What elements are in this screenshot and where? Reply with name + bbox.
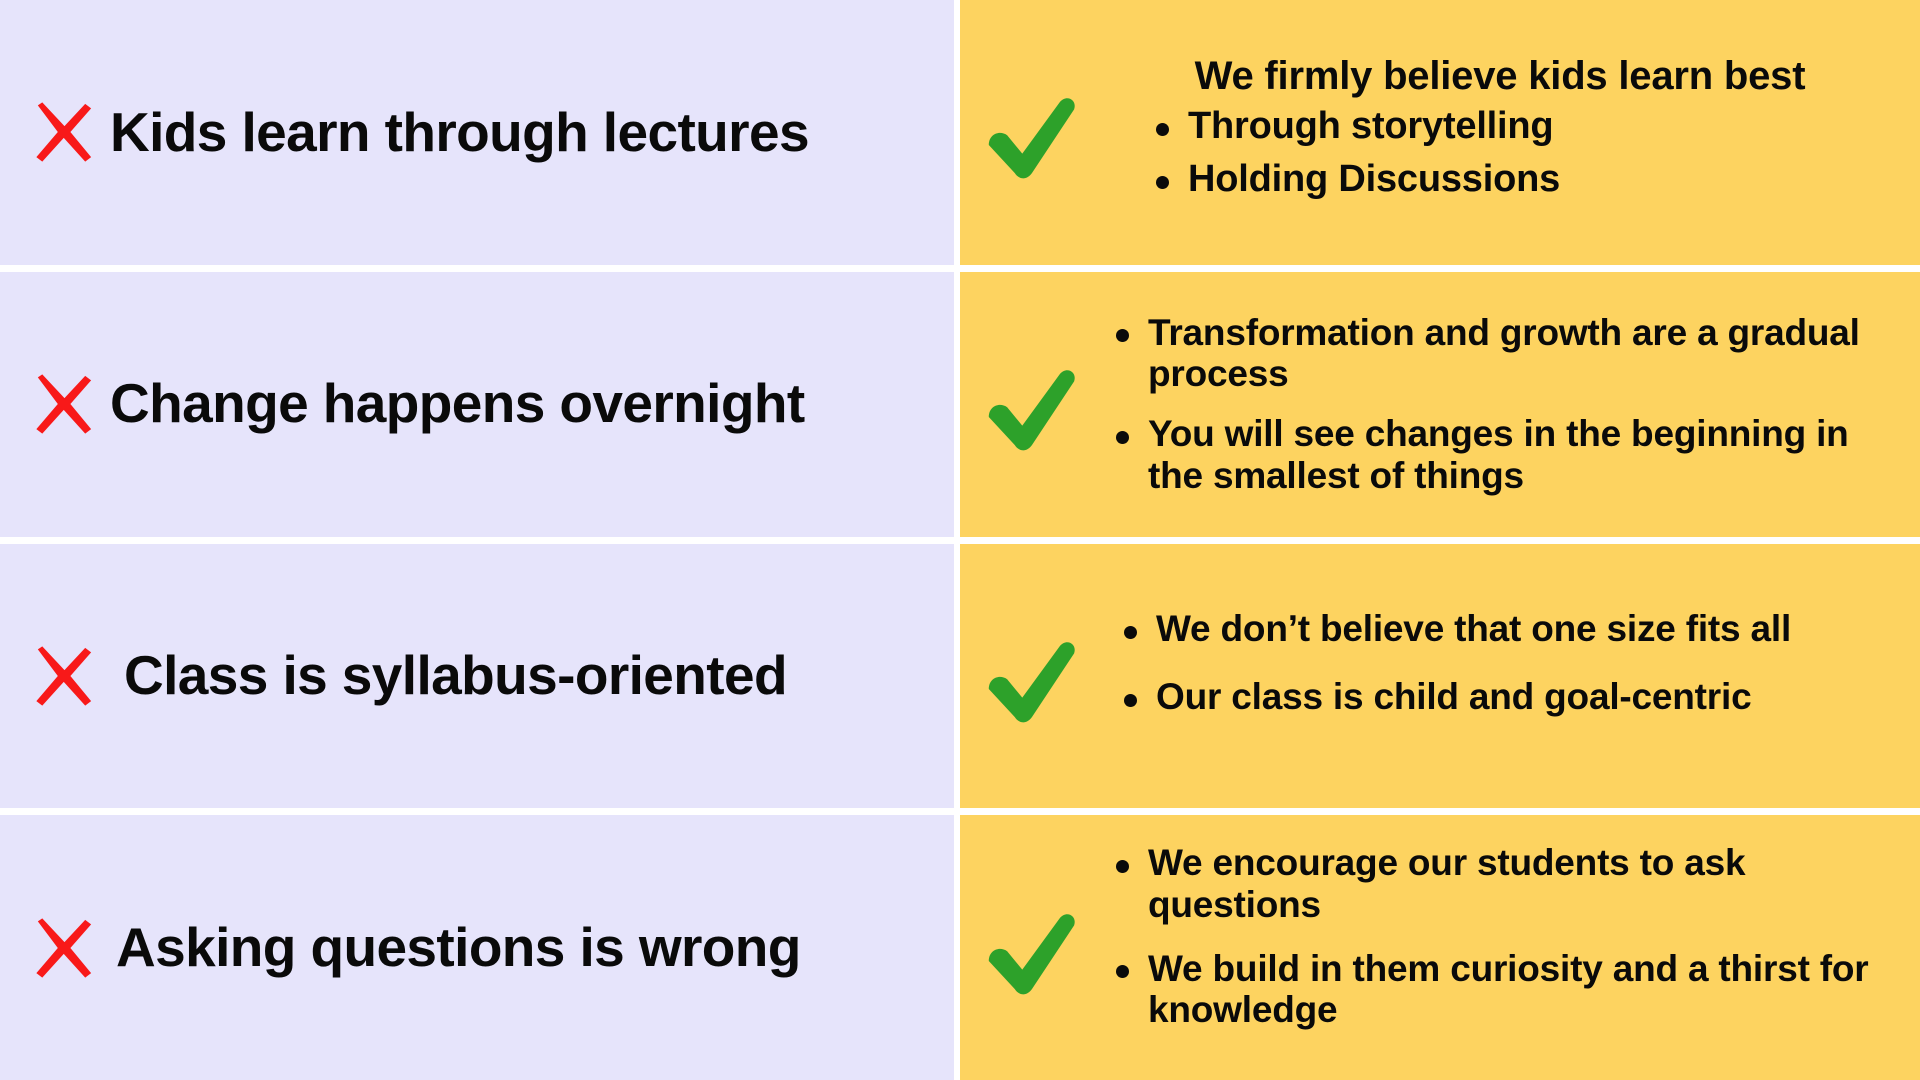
truth-bullet-list: Through storytelling Holding Discussions: [1094, 105, 1906, 201]
green-check-icon: [978, 622, 1086, 730]
list-item: Transformation and growth are a gradual …: [1104, 312, 1906, 396]
list-item: Our class is child and goal-centric: [1112, 676, 1906, 718]
myth-cell: Class is syllabus-oriented: [0, 544, 960, 809]
truth-bullet-list: We don’t believe that one size fits all …: [1112, 608, 1906, 718]
myth-vs-truth-comparison-table: Kids learn through lectures We firmly be…: [0, 0, 1920, 1080]
green-check-icon: [978, 78, 1086, 186]
truth-body: We encourage our students to ask questio…: [1088, 842, 1906, 1053]
truth-cell: We firmly believe kids learn best Throug…: [960, 0, 1920, 265]
myth-cell: Change happens overnight: [0, 272, 960, 537]
list-item: We don’t believe that one size fits all: [1112, 608, 1906, 650]
myth-text: Kids learn through lectures: [110, 104, 809, 162]
red-x-icon: [26, 367, 100, 441]
truth-bullet-list: We encourage our students to ask questio…: [1104, 842, 1906, 1031]
truth-body: We don’t believe that one size fits all …: [1088, 608, 1906, 744]
list-item: We encourage our students to ask questio…: [1104, 842, 1906, 926]
table-row: Asking questions is wrong We encourage o…: [0, 815, 1920, 1080]
myth-text: Class is syllabus-oriented: [110, 647, 787, 705]
truth-cell: Transformation and growth are a gradual …: [960, 272, 1920, 537]
truth-body: Transformation and growth are a gradual …: [1088, 312, 1906, 497]
truth-cell: We don’t believe that one size fits all …: [960, 544, 1920, 809]
myth-text: Asking questions is wrong: [110, 919, 801, 977]
green-check-icon: [978, 350, 1086, 458]
myth-text: Change happens overnight: [110, 375, 805, 433]
green-check-icon: [978, 894, 1086, 1002]
list-item: Through storytelling: [1144, 105, 1906, 148]
table-row: Kids learn through lectures We firmly be…: [0, 0, 1920, 272]
red-x-icon: [26, 95, 100, 169]
myth-cell: Kids learn through lectures: [0, 0, 960, 265]
truth-cell: We encourage our students to ask questio…: [960, 815, 1920, 1080]
table-row: Class is syllabus-oriented We don’t beli…: [0, 544, 1920, 816]
table-row: Change happens overnight Transformation …: [0, 272, 1920, 544]
list-item: You will see changes in the beginning in…: [1104, 413, 1906, 497]
red-x-icon: [26, 639, 100, 713]
list-item: We build in them curiosity and a thirst …: [1104, 948, 1906, 1032]
red-x-icon: [26, 911, 100, 985]
truth-heading: We firmly believe kids learn best: [1094, 54, 1906, 99]
truth-bullet-list: Transformation and growth are a gradual …: [1104, 312, 1906, 497]
list-item: Holding Discussions: [1144, 158, 1906, 201]
myth-cell: Asking questions is wrong: [0, 815, 960, 1080]
truth-body: We firmly believe kids learn best Throug…: [1088, 54, 1906, 211]
